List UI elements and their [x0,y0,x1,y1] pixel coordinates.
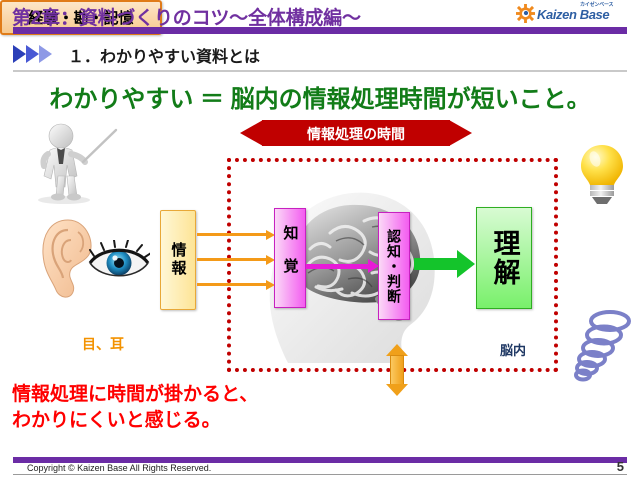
feed-arrow-2 [197,258,267,261]
triangle-2 [26,45,39,63]
processing-time-banner: 情報処理の時間 [240,120,472,146]
cognition-box-label: 認知・判断 [387,229,401,304]
triangle-1 [13,45,26,63]
copyright-text: Copyright © Kaizen Base All Rights Reser… [27,463,211,473]
understanding-box: 理解 [476,207,532,309]
brand-logo: カイゼンベース Kaizen Base [514,2,632,26]
sensory-input-label: 目、耳 [82,334,124,354]
arrow-shaft [390,355,404,385]
perception-to-cognition-arrow [306,264,369,269]
eye-icon [88,240,150,286]
logo-text: Kaizen Base [537,7,609,22]
cognition-to-understanding-arrow [414,258,458,270]
page-title: 第2章：資料づくりのコツ～全体構成編～ [12,3,361,30]
information-box: 情報 [160,210,196,310]
banner-label: 情報処理の時間 [240,124,472,144]
section-rule [13,70,627,72]
triple-triangle-icon [13,45,61,63]
lightbulb-icon [578,143,626,205]
feed-arrow-3 [197,283,267,286]
footer-rule [13,474,627,475]
feed-arrow-1 [197,233,267,236]
arrow-head-down [386,384,408,396]
gear-icon [516,4,535,23]
section-title: １．わかりやすい資料とは [68,43,260,67]
bottom-note-line-2: わかりにくいと感じる。 [12,408,258,434]
page-number: 5 [617,459,624,474]
triangle-3 [39,45,52,63]
bottom-note-line-1: 情報処理に時間が掛かると、 [12,382,258,408]
memory-double-arrow [386,344,408,396]
slide-canvas: 第2章：資料づくりのコツ～全体構成編～ カイゼンベース Kaizen Base [0,0,640,480]
perception-box-label: 知覚 [283,225,298,291]
bottom-note: 情報処理に時間が掛かると、 わかりにくいと感じる。 [12,382,258,433]
understanding-box-label: 理解 [491,229,518,287]
spiral-decoration-icon [572,308,634,386]
brain-region-label: 脳内 [500,340,526,359]
perception-box: 知覚 [274,208,306,308]
person-with-pointer-icon [24,122,124,204]
header-divider-bar [13,27,627,34]
key-statement: わかりやすい ＝ 脳内の情報処理時間が短いこと。 [0,79,640,114]
cognition-box: 認知・判断 [378,212,410,320]
information-box-label: 情報 [171,242,186,278]
